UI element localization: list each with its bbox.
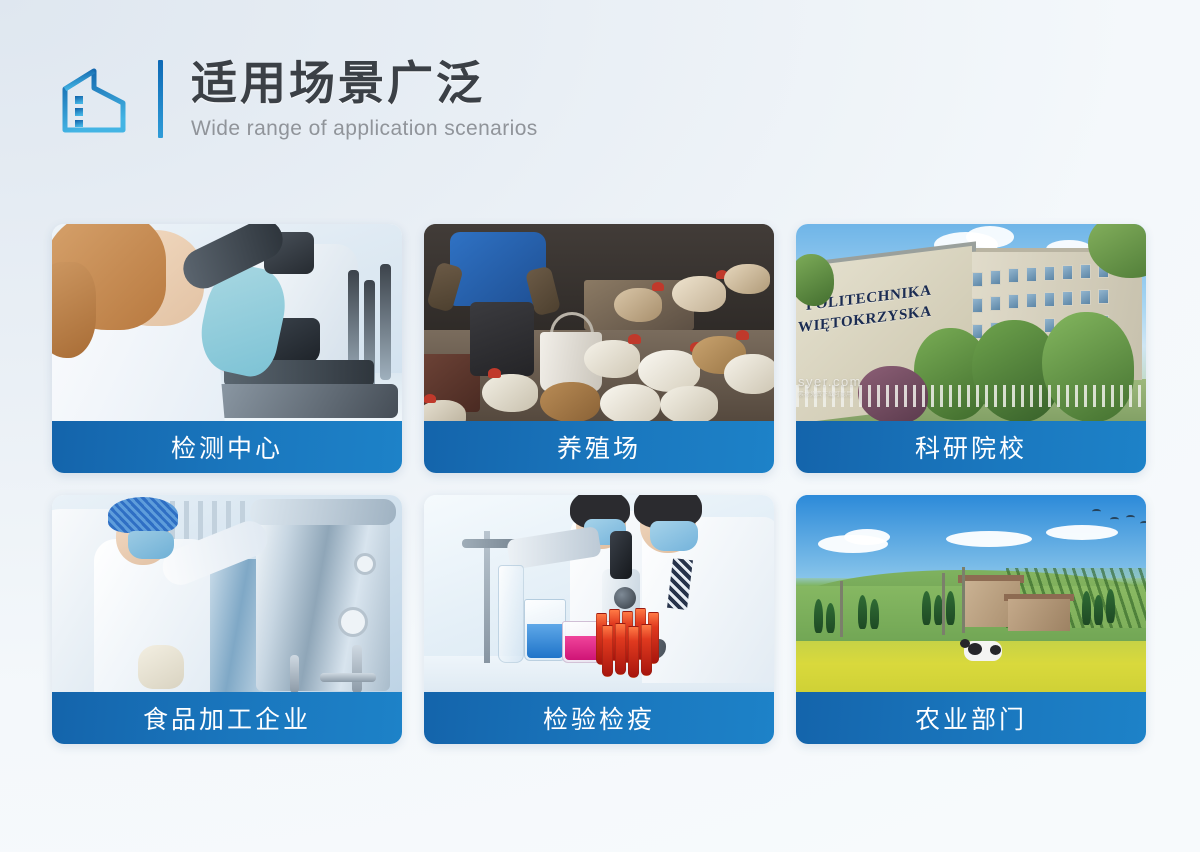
- scenario-card-detection-center[interactable]: 检测中心: [52, 224, 402, 473]
- image-watermark: syer.com 素材免费下载可商用: [798, 374, 914, 398]
- card-label-breeding-farm: 养殖场: [424, 421, 774, 473]
- scenario-card-agriculture-dept[interactable]: 农业部门: [796, 495, 1146, 744]
- card-image-agriculture-dept: [796, 495, 1146, 692]
- scenario-card-breeding-farm[interactable]: 养殖场: [424, 224, 774, 473]
- building-icon: [60, 63, 128, 135]
- header-divider: [158, 60, 163, 138]
- card-image-inspection-quarantine: [424, 495, 774, 692]
- card-label-agriculture-dept: 农业部门: [796, 692, 1146, 744]
- scenario-card-research-institute[interactable]: POLITECHNIKA WIĘTOKRZYSKA syer.com 素材免费下…: [796, 224, 1146, 473]
- section-header: 适用场景广泛 Wide range of application scenari…: [60, 58, 538, 141]
- card-label-detection-center: 检测中心: [52, 421, 402, 473]
- card-label-inspection-quarantine: 检验检疫: [424, 692, 774, 744]
- card-image-detection-center: [52, 224, 402, 421]
- card-image-breeding-farm: [424, 224, 774, 421]
- page-subtitle: Wide range of application scenarios: [191, 117, 538, 141]
- image-watermark-sub: 素材免费下载可商用: [798, 389, 914, 398]
- card-image-research-institute: POLITECHNIKA WIĘTOKRZYSKA syer.com 素材免费下…: [796, 224, 1146, 421]
- scenario-card-grid: 检测中心: [52, 224, 1148, 744]
- card-label-food-processing: 食品加工企业: [52, 692, 402, 744]
- scenario-card-food-processing[interactable]: 食品加工企业: [52, 495, 402, 744]
- scenario-card-inspection-quarantine[interactable]: 检验检疫: [424, 495, 774, 744]
- page-title: 适用场景广泛: [191, 58, 538, 110]
- card-label-research-institute: 科研院校: [796, 421, 1146, 473]
- card-image-food-processing: [52, 495, 402, 692]
